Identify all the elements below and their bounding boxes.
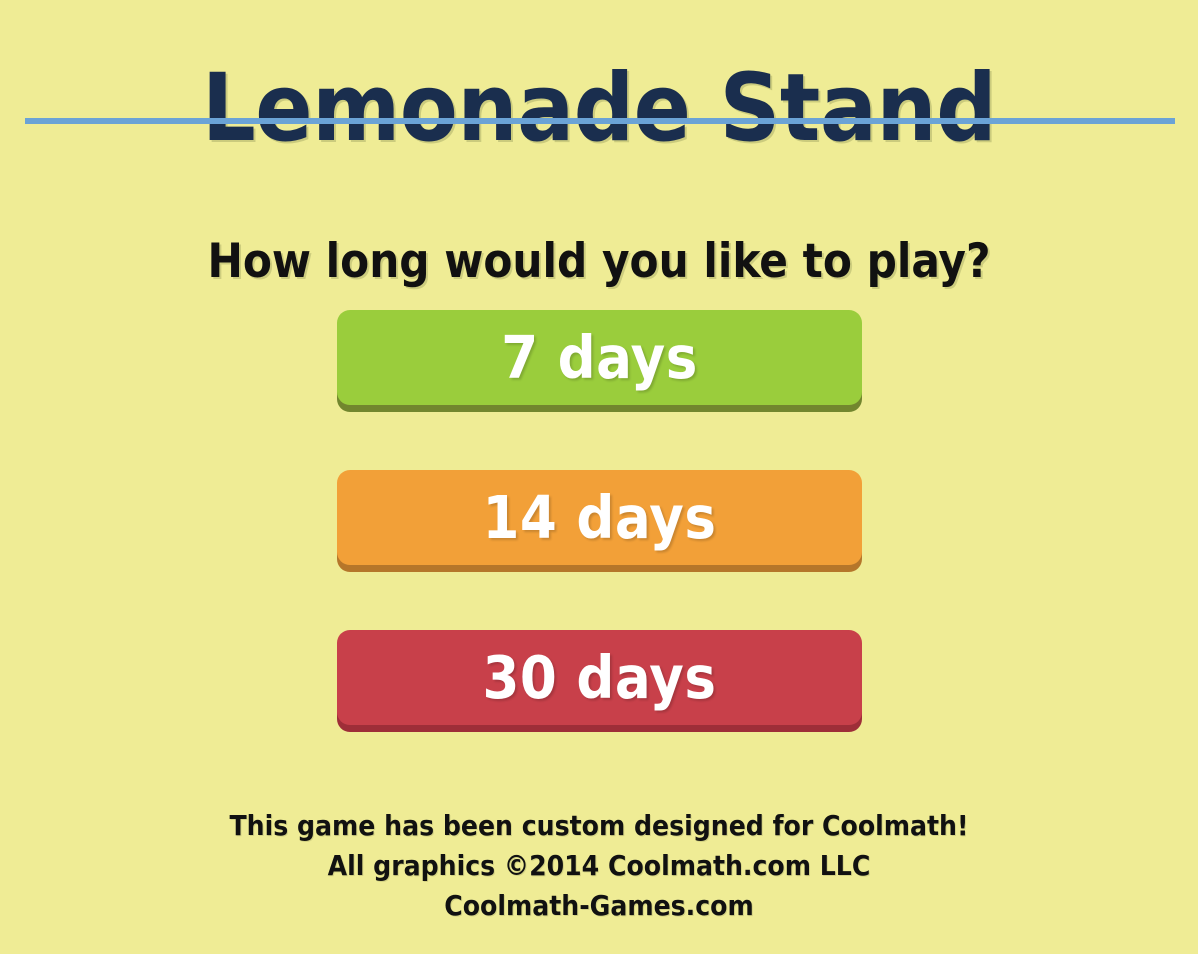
page-title: Lemonade Stand <box>0 54 1198 164</box>
footer-credit-line: This game has been custom designed for C… <box>0 806 1198 846</box>
play-duration-30-days-button[interactable]: 30 days <box>337 630 862 725</box>
play-duration-14-days-button[interactable]: 14 days <box>337 470 862 565</box>
footer: This game has been custom designed for C… <box>0 806 1198 926</box>
title-divider <box>25 118 1175 124</box>
play-duration-7-days-button[interactable]: 7 days <box>337 310 862 405</box>
prompt-text: How long would you like to play? <box>0 231 1198 293</box>
duration-choice-group: 7 days 14 days 30 days <box>337 310 862 725</box>
footer-website-line: Coolmath-Games.com <box>0 886 1198 926</box>
game-screen: Lemonade Stand How long would you like t… <box>0 0 1198 954</box>
footer-copyright-line: All graphics ©2014 Coolmath.com LLC <box>0 846 1198 886</box>
title-bar: Lemonade Stand <box>0 0 1198 124</box>
